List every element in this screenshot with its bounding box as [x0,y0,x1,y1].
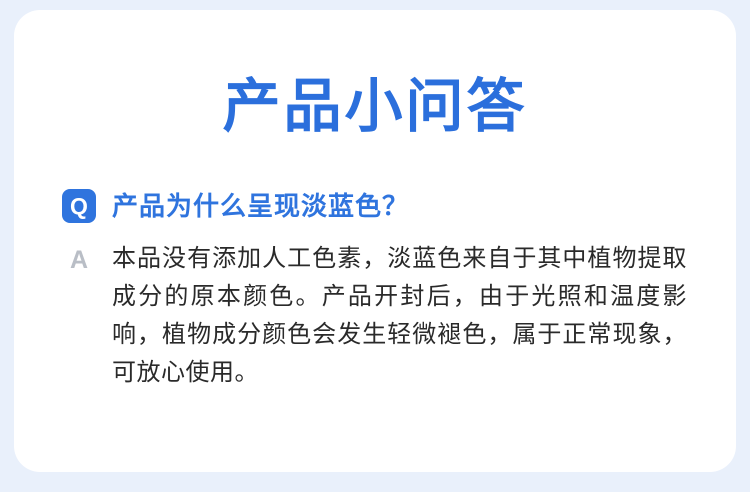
answer-row: A 本品没有添加人工色素，淡蓝色来自于其中植物提取成分的原本颜色。产品开封后，由… [62,240,702,392]
question-row: Q 产品为什么呈现淡蓝色？ [62,188,702,224]
question-badge-icon: Q [62,189,96,223]
qa-block: Q 产品为什么呈现淡蓝色？ A 本品没有添加人工色素，淡蓝色来自于其中植物提取成… [62,188,702,392]
page-title: 产品小问答 [14,72,736,142]
page-root: 产品小问答 Q 产品为什么呈现淡蓝色？ A 本品没有添加人工色素，淡蓝色来自于其… [0,0,750,492]
answer-text: 本品没有添加人工色素，淡蓝色来自于其中植物提取成分的原本颜色。产品开封后，由于光… [112,240,687,392]
content-card: 产品小问答 Q 产品为什么呈现淡蓝色？ A 本品没有添加人工色素，淡蓝色来自于其… [14,10,736,472]
question-text: 产品为什么呈现淡蓝色？ [112,188,409,224]
answer-badge-icon: A [62,243,96,277]
